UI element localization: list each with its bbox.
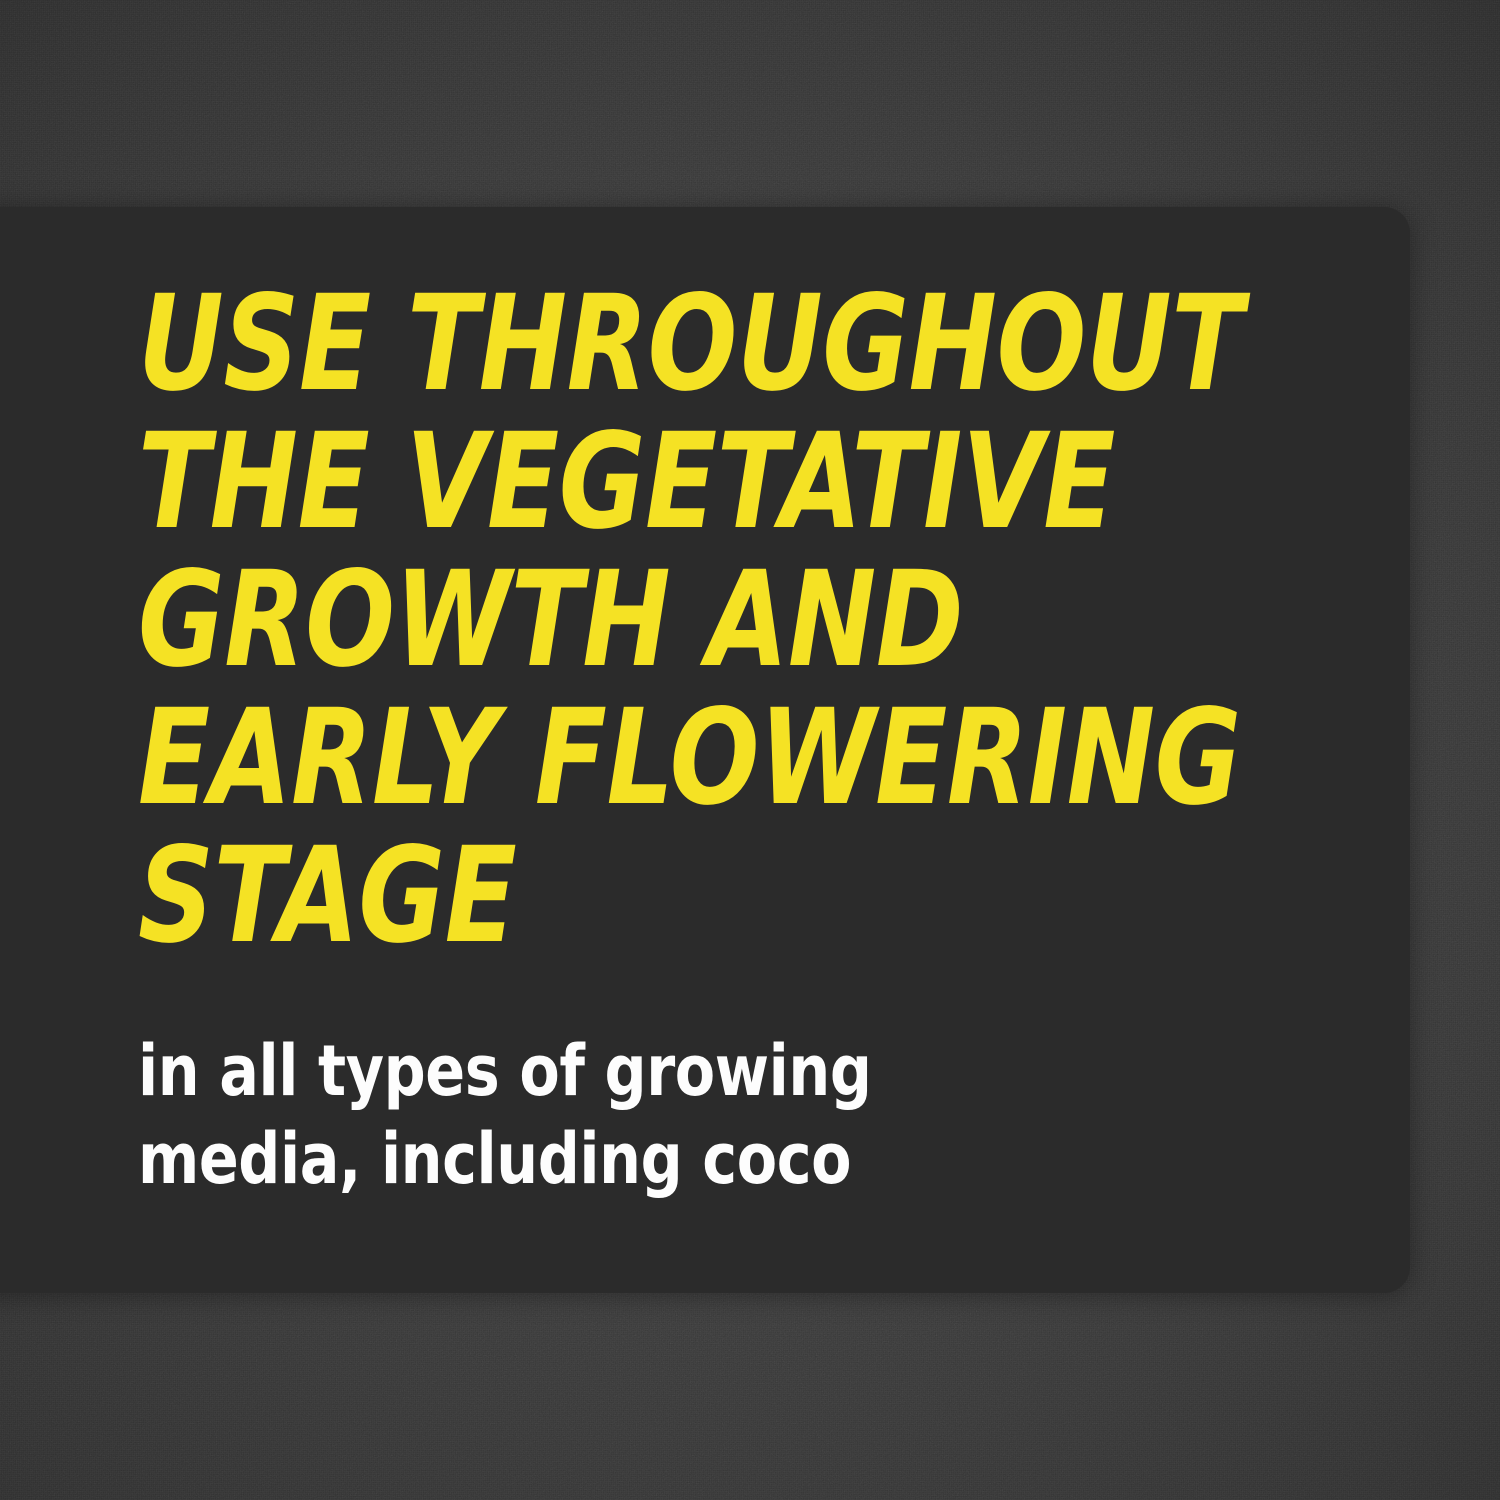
- headline-line-4: EARLY FLOWERING: [138, 689, 1124, 827]
- headline-line-2: THE VEGETATIVE: [138, 413, 1124, 551]
- headline-line-5: STAGE: [138, 827, 1124, 965]
- subtitle: in all types of growing media, including…: [138, 965, 1173, 1203]
- headline-line-3: GROWTH AND: [138, 551, 1124, 689]
- headline-line-1: USE THROUGHOUT: [138, 275, 1124, 413]
- card-content-area: USE THROUGHOUT THE VEGETATIVE GROWTH AND…: [138, 275, 1370, 1253]
- subtitle-line-1: in all types of growing: [138, 1027, 1173, 1115]
- content-card: USE THROUGHOUT THE VEGETATIVE GROWTH AND…: [0, 207, 1410, 1293]
- page-title: USE THROUGHOUT THE VEGETATIVE GROWTH AND…: [138, 275, 1124, 965]
- subtitle-line-2: media, including coco: [138, 1115, 1173, 1203]
- promotional-graphic: USE THROUGHOUT THE VEGETATIVE GROWTH AND…: [0, 0, 1500, 1500]
